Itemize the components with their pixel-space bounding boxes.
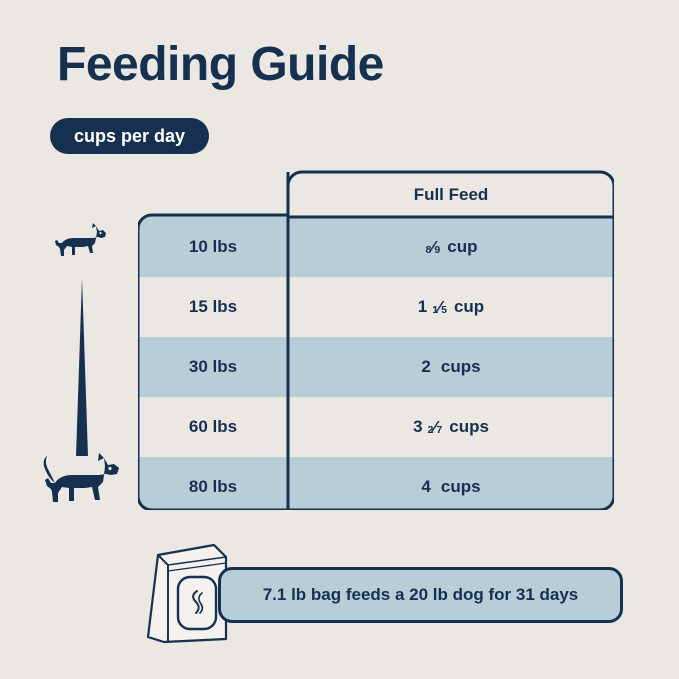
large-dog-icon xyxy=(40,452,124,510)
small-dog-icon xyxy=(52,222,110,262)
weight-value: 60 lbs xyxy=(189,417,237,437)
infographic-canvas: Feeding Guide cups per day xyxy=(0,0,679,679)
table-row: 80 lbs xyxy=(138,457,288,517)
table-row: 8 ⁄ 9 cup xyxy=(288,217,614,277)
fraction-denominator: 9 xyxy=(434,245,440,256)
amount-fraction: 1 ⁄ 5 xyxy=(432,297,447,318)
amount-unit: cup xyxy=(447,237,477,257)
page-title: Feeding Guide xyxy=(57,41,384,89)
amount-fraction: 8 ⁄ 9 xyxy=(426,237,441,258)
amount-unit: cups xyxy=(449,417,489,437)
table-row: 15 lbs xyxy=(138,277,288,337)
fraction-denominator: 7 xyxy=(436,425,442,436)
weight-value: 80 lbs xyxy=(189,477,237,497)
weight-value: 15 lbs xyxy=(189,297,237,317)
amount-whole: 1 xyxy=(418,297,427,317)
size-gradient-triangle xyxy=(66,278,98,456)
fraction-denominator: 5 xyxy=(441,305,447,316)
subtitle-badge: cups per day xyxy=(50,118,209,154)
table-row: 2 cups xyxy=(288,337,614,397)
amount-whole: 2 xyxy=(421,357,430,377)
table-row: 4 cups xyxy=(288,457,614,517)
amount-whole: 4 xyxy=(421,477,430,497)
amount-unit: cups xyxy=(441,357,481,377)
table-row: 60 lbs xyxy=(138,397,288,457)
subtitle-badge-label: cups per day xyxy=(74,126,185,147)
amount-unit: cup xyxy=(454,297,484,317)
table-row: 3 2 ⁄ 7 cups xyxy=(288,397,614,457)
amount-unit: cups xyxy=(441,477,481,497)
column-header-full-feed: Full Feed xyxy=(288,172,614,217)
weight-value: 10 lbs xyxy=(189,237,237,257)
bottom-callout-text: 7.1 lb bag feeds a 20 lb dog for 31 days xyxy=(263,585,579,605)
feeding-table: Full Feed 10 lbs 8 ⁄ 9 cup 15 lbs 1 1 ⁄ … xyxy=(138,169,614,510)
amount-fraction: 2 ⁄ 7 xyxy=(428,417,443,438)
amount-whole: 3 xyxy=(413,417,422,437)
table-row: 30 lbs xyxy=(138,337,288,397)
table-row: 1 1 ⁄ 5 cup xyxy=(288,277,614,337)
table-row: 10 lbs xyxy=(138,217,288,277)
bottom-callout-bar: 7.1 lb bag feeds a 20 lb dog for 31 days xyxy=(218,567,623,623)
weight-value: 30 lbs xyxy=(189,357,237,377)
